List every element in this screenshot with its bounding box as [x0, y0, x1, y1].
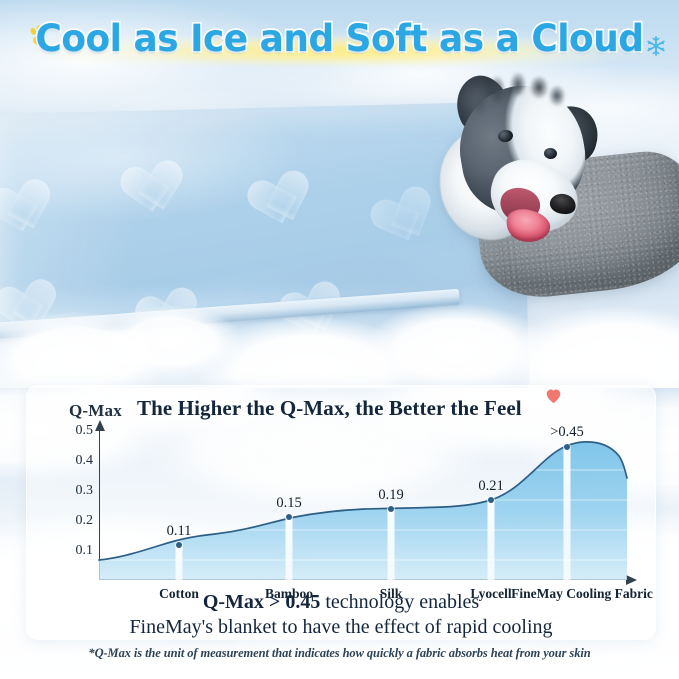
hero-product-photo [0, 70, 679, 388]
data-point-marker [488, 497, 494, 503]
chart-y-axis-title: Q-Max [69, 401, 122, 421]
data-point-value: 0.19 [378, 487, 403, 504]
data-point-value: 0.15 [276, 495, 301, 512]
tagline-line-1: Q-Max > 0.45 technology enables [27, 590, 655, 615]
data-point-value: 0.11 [167, 523, 192, 540]
y-tick-label: 0.2 [76, 513, 94, 529]
dog-photo [432, 70, 622, 285]
data-point-marker [564, 444, 570, 450]
chart-plot-area: 0.5 0.4 0.3 0.2 0.1 [99, 432, 627, 580]
point-stem [176, 545, 183, 580]
point-stem [286, 517, 293, 580]
data-point-marker [286, 514, 292, 520]
qmax-chart-panel: Q-Max The Higher the Q-Max, the Better t… [26, 385, 656, 640]
y-tick-label: 0.3 [76, 483, 94, 499]
headline-banner: Cool as Ice and Soft as a Cloud [0, 0, 679, 86]
chart-y-ticks: 0.5 0.4 0.3 0.2 0.1 [57, 423, 93, 571]
chart-tagline: Q-Max > 0.45 technology enables FineMay'… [27, 590, 655, 640]
y-tick-label: 0.5 [76, 423, 94, 439]
y-tick-label: 0.1 [76, 543, 94, 559]
product-infographic: Cool as Ice and Soft as a Cloud [0, 0, 679, 679]
data-point-marker [176, 542, 182, 548]
y-tick-label: 0.4 [76, 453, 94, 469]
point-stem [388, 509, 395, 580]
tagline-bold: Q-Max > 0.45 [203, 591, 321, 613]
point-stem [488, 500, 495, 580]
data-point-marker [388, 506, 394, 512]
headline-text: Cool as Ice and Soft as a Cloud [10, 14, 669, 64]
data-point-value: >0.45 [550, 424, 584, 441]
heart-icon [545, 388, 562, 404]
tagline-rest: technology enables [320, 591, 479, 613]
y-axis-arrow-icon [95, 420, 105, 431]
footnote-text: *Q-Max is the unit of measurement that i… [0, 646, 679, 661]
chart-title: The Higher the Q-Max, the Better the Fee… [137, 396, 522, 421]
point-stem [564, 447, 571, 580]
data-point-value: 0.21 [478, 478, 503, 495]
x-axis-arrow-icon [626, 575, 637, 585]
tagline-line-2: FineMay's blanket to have the effect of … [27, 615, 655, 640]
snowflake-icon [645, 35, 667, 57]
